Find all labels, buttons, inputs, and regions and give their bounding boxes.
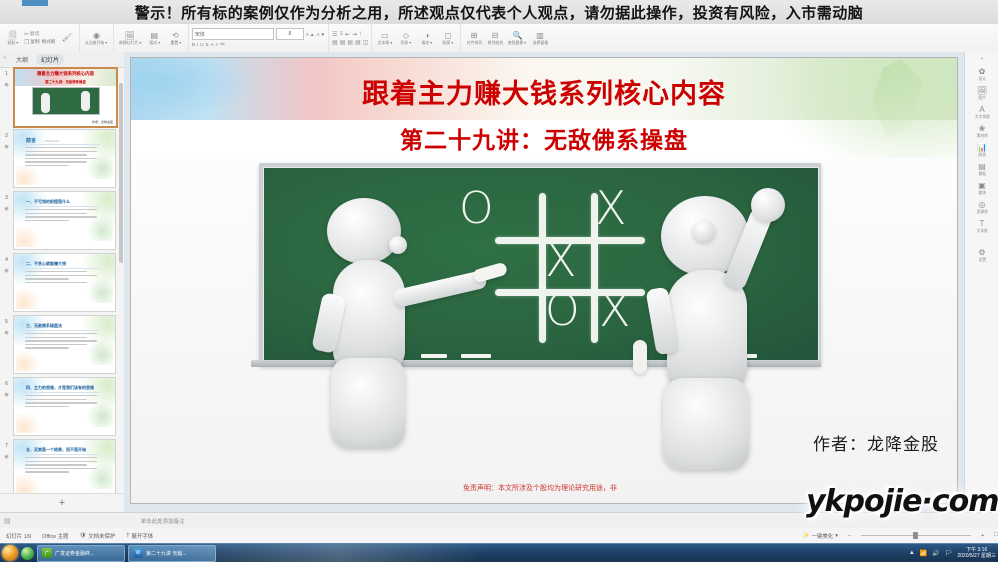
shield-icon: 🛡 xyxy=(79,533,86,539)
thumb-subtitle-1: 第二十九讲：无敌佛系操盘 xyxy=(15,79,116,84)
show-desktop-icon[interactable]: ▲ xyxy=(909,550,915,556)
wps-presentation-window: 警示！所有标的案例仅作为分析之用，所述观点仅代表个人观点，请勿据此操作，投资有风… xyxy=(0,0,998,561)
browser-icon[interactable] xyxy=(21,547,34,560)
tab-outline[interactable]: 大纲 xyxy=(16,55,28,64)
element-icon: ❀ xyxy=(979,124,986,133)
ribbon-group-slides: 🖼 新建幻灯片 ▾ ▤ 版式 ▾ ⟲ 重置 ▾ xyxy=(114,24,189,52)
reset-button[interactable]: ⟲ 重置 ▾ xyxy=(166,25,185,51)
bold-button[interactable]: B xyxy=(192,42,195,47)
windows-taskbar: 广 广发证券金融终... W 第二十九讲 无敌... ▲ 📶 🔊 🏳 下午 3:… xyxy=(0,543,998,562)
hide-slide-icon[interactable]: ◉ xyxy=(4,206,8,212)
warning-banner: 警示！所有标的案例仅作为分析之用，所述观点仅代表个人观点，请勿据此操作，投资有风… xyxy=(0,0,998,25)
banner-tab-marker xyxy=(22,0,48,6)
new-slide-button[interactable]: 🖼 新建幻灯片 ▾ xyxy=(117,25,143,51)
hide-slide-icon[interactable]: ◉ xyxy=(4,144,8,150)
collapse-rail-icon[interactable]: » xyxy=(981,56,984,62)
slide-author[interactable]: 作者：龙降金股 xyxy=(813,430,939,455)
status-protection[interactable]: 🛡文档未保护 xyxy=(79,532,115,540)
thumbnail-slide-4[interactable]: 4◉ 二、不贪心就能赚大钱 xyxy=(0,253,124,314)
rail-item-image[interactable]: 🖼图片 xyxy=(968,86,996,100)
clock-date: 2020/5/27 星期三 xyxy=(957,553,996,559)
new-slide-icon: 🖼 xyxy=(125,32,135,40)
italic-button[interactable]: I xyxy=(197,42,198,47)
rail-item-chart[interactable]: 📊图表 xyxy=(968,143,996,157)
taskbar-window-label-1: 广发证券金融终... xyxy=(55,550,94,557)
clipboard-small-buttons: ✂剪切 ❐复制 格式刷 xyxy=(24,24,55,52)
rail-item-template[interactable]: ▤模板 xyxy=(968,162,996,176)
align-right-button[interactable]: ▤ xyxy=(347,39,353,46)
line-spacing-icon: ↕ xyxy=(359,31,362,37)
underline-button[interactable]: U xyxy=(200,42,203,47)
right-tool-rail: » ✿设计 🖼图片 A文字排版 ❀素材库 📊图表 ▤模板 ▣媒体 ◎资源库 T文… xyxy=(964,52,998,516)
thumb-figure-right xyxy=(81,91,90,111)
thumb-heading-6: 四、主力的思维，才是我们该有的思维 xyxy=(26,385,94,391)
align-left-icon: ▤ xyxy=(332,39,338,46)
thumb-heading-2: 前言 xyxy=(26,137,36,144)
hide-slide-icon[interactable]: ◉ xyxy=(4,82,8,88)
thumbnail-slide-5[interactable]: 5◉ 三、无敌佛系操盘法 xyxy=(0,315,124,376)
fit-slide-icon[interactable]: ⛶ xyxy=(994,532,998,539)
image-group-icon: 🖼 xyxy=(977,86,987,95)
paste-label: 粘贴 ▾ xyxy=(7,40,18,45)
indent-increase-icon: ⇥ xyxy=(352,31,357,38)
align-right-icon: ▤ xyxy=(347,39,353,46)
text-box-button[interactable]: ▭ 文本框 ▾ xyxy=(375,25,394,51)
format-painter-icon: 🖌 xyxy=(62,34,72,42)
chart-icon: 📊 xyxy=(977,143,987,152)
site-watermark: ykpojie·com xyxy=(806,484,998,519)
indent-decrease-icon: ⇤ xyxy=(345,31,350,38)
hide-slide-icon[interactable]: ◉ xyxy=(4,330,8,336)
tab-slides[interactable]: 幻灯片 xyxy=(36,54,64,65)
font-size-input[interactable]: 8 xyxy=(276,28,304,40)
align-objects-button[interactable]: ⊞ 对齐排列 xyxy=(464,25,483,51)
slide-title[interactable]: 跟着主力赚大钱系列核心内容 xyxy=(131,72,957,111)
thumb-title-1: 跟着主力赚大钱系列核心内容 xyxy=(15,71,116,77)
blackboard-illustration: O X X O X xyxy=(131,158,957,503)
settings-icon: ⚙ xyxy=(978,248,985,257)
ribbon-group-clipboard: 🗐 粘贴 ▾ ✂剪切 ❐复制 格式刷 🖌 xyxy=(0,24,80,52)
design-idea-icon: ✿ xyxy=(979,67,986,76)
format-painter-big-button[interactable]: 🖌 xyxy=(57,25,76,51)
rail-item-media[interactable]: ▣媒体 xyxy=(968,181,996,195)
thumbnail-card-4: 二、不贪心就能赚大钱 xyxy=(13,253,116,312)
bullets-icon: ☰ xyxy=(332,31,337,38)
ribbon-group-arrange: ⊞ 对齐排列 ⊟ 排列组合 🔍 查找替换 ▾ ▥ 选择窗格 xyxy=(461,24,552,52)
find-replace-button[interactable]: 🔍 查找替换 ▾ xyxy=(506,25,528,51)
current-slide[interactable]: 跟着主力赚大钱系列核心内容 第二十九讲：无敌佛系操盘 O X xyxy=(130,57,958,504)
resource-icon: ◎ xyxy=(979,200,986,209)
status-beautify[interactable]: ✨一键美化▾ xyxy=(803,532,838,540)
thumbnail-card-2: 前言 PREFACE xyxy=(13,129,116,188)
text-box-icon: ▭ xyxy=(381,32,389,40)
outline-icon: ◻ xyxy=(445,32,452,40)
reset-icon: ⟲ xyxy=(172,32,179,40)
warning-banner-text: 警示！所有标的案例仅作为分析之用，所述观点仅代表个人观点，请勿据此操作，投资有风… xyxy=(135,2,864,23)
system-tray: ▲ 📶 🔊 🏳 下午 3:16 2020/5/27 星期三 xyxy=(909,547,998,559)
font-icon: T xyxy=(126,533,129,539)
justify-button[interactable]: ▤ xyxy=(355,39,361,46)
shrink-font-button[interactable]: A▼ xyxy=(316,32,325,37)
magic-icon: ✨ xyxy=(803,533,810,539)
strikethrough-button[interactable]: S xyxy=(206,42,209,47)
ribbon-group-paragraph: ☰ ≡ ⇤ ⇥ ↕ ▤ ▤ ▤ ▤ ◫ xyxy=(329,24,372,52)
thumbnail-slide-6[interactable]: 6◉ 四、主力的思维，才是我们该有的思维 xyxy=(0,377,124,438)
format-painter-button[interactable]: 格式刷 xyxy=(42,39,56,45)
thumb-author-1: 作者：龙降金股 xyxy=(92,120,113,124)
zoom-slider[interactable] xyxy=(861,535,971,536)
thumbnail-card-1: 跟着主力赚大钱系列核心内容 第二十九讲：无敌佛系操盘 作者：龙降金股 xyxy=(13,67,118,128)
numbering-button[interactable]: ≡ xyxy=(339,31,343,37)
align-center-button[interactable]: ▤ xyxy=(340,39,346,46)
ribbon-group-font: 宋体 8 A▲ A▼ B I U S A × ✏ xyxy=(189,24,329,52)
align-group-button[interactable]: ⊟ 排列组合 xyxy=(485,25,504,51)
thumbnail-card-5: 三、无敌佛系操盘法 xyxy=(13,315,116,374)
thumbnail-index-4: 4 xyxy=(5,257,8,263)
rail-item-settings[interactable]: ⚙设置 xyxy=(968,248,996,262)
highlight-button[interactable]: ✏ xyxy=(220,41,225,48)
wps-icon: W xyxy=(133,548,143,558)
ribbon-group-section: ◉ 从当前开始 ▾ xyxy=(80,24,113,52)
taskbar-window-stock-app[interactable]: 广 广发证券金融终... xyxy=(37,545,125,562)
media-icon: ▣ xyxy=(978,181,986,190)
notes-grip-icon[interactable]: ▤ xyxy=(4,517,11,525)
workspace: ‹‹ 大纲 幻灯片 1 ◉ 跟着主力赚大钱系列核心内容 第二十九讲：无敌佛系操盘 xyxy=(0,52,998,512)
thumbnail-slide-1[interactable]: 1 ◉ 跟着主力赚大钱系列核心内容 第二十九讲：无敌佛系操盘 作者：龙降金股 xyxy=(0,67,124,128)
section-icon: ◉ xyxy=(93,32,100,40)
find-replace-icon: 🔍 xyxy=(512,32,522,40)
volume-icon[interactable]: 🔊 xyxy=(932,550,939,557)
start-from-current-button[interactable]: ◉ 从当前开始 ▾ xyxy=(83,25,109,51)
zoom-out-button[interactable]: − xyxy=(848,533,851,539)
status-theme[interactable]: Office 主题 xyxy=(42,532,68,540)
thumb-heading-4: 二、不贪心就能赚大钱 xyxy=(26,261,66,267)
template-icon: ▤ xyxy=(978,162,986,171)
shapes-button[interactable]: ◇ 形状 ▾ xyxy=(396,25,415,51)
thumb-heading-5: 三、无敌佛系操盘法 xyxy=(26,323,62,329)
collapse-panel-icon[interactable]: ‹‹ xyxy=(3,55,6,61)
action-center-icon[interactable]: 🏳 xyxy=(945,550,953,557)
slide-stage: 跟着主力赚大钱系列核心内容 第二十九讲：无敌佛系操盘 O X xyxy=(124,52,964,512)
hide-slide-icon[interactable]: ◉ xyxy=(4,268,8,274)
zoom-in-button[interactable]: + xyxy=(981,533,984,539)
taskbar-clock[interactable]: 下午 3:16 2020/5/27 星期三 xyxy=(957,547,996,559)
select-pane-icon: ▥ xyxy=(536,32,544,40)
slide-subtitle[interactable]: 第二十九讲：无敌佛系操盘 xyxy=(131,121,957,155)
figure-student xyxy=(601,190,801,440)
board-mark-x-mid: X xyxy=(545,237,577,283)
add-slide-button[interactable]: + xyxy=(0,493,124,512)
network-icon[interactable]: 📶 xyxy=(920,550,927,557)
thumbnail-card-3: 一、不亏钱的前提是什么 xyxy=(13,191,116,250)
rail-item-design[interactable]: ✿设计 xyxy=(968,67,996,81)
zoom-slider-knob[interactable] xyxy=(913,532,918,539)
indent-increase-button[interactable]: ⇥ xyxy=(352,31,357,38)
rail-item-resource[interactable]: ◎资源库 xyxy=(968,200,996,214)
fill-icon: ◑ xyxy=(425,32,430,40)
cut-icon: ✂ xyxy=(24,31,29,38)
cut-button[interactable]: ✂剪切 xyxy=(24,31,39,38)
highlight-icon: ✏ xyxy=(220,41,225,48)
hide-slide-icon[interactable]: ◉ xyxy=(4,454,8,460)
copy-button[interactable]: ❐复制 xyxy=(24,39,40,46)
text-color-button[interactable]: A xyxy=(211,42,214,47)
notes-placeholder: 单击此处添加备注 xyxy=(141,517,185,525)
thumbnail-card-7: 五、买卖是一个结果，而不是开始 xyxy=(13,439,116,494)
rail-item-textbox[interactable]: T文本框 xyxy=(968,219,996,233)
thumbnail-slide-3[interactable]: 3◉ 一、不亏钱的前提是什么 xyxy=(0,191,124,252)
figure-teacher xyxy=(307,198,467,438)
thumb-heading-7: 五、买卖是一个结果，而不是开始 xyxy=(26,447,86,453)
paste-button[interactable]: 🗐 粘贴 ▾ xyxy=(3,25,22,51)
select-pane-button[interactable]: ▥ 选择窗格 xyxy=(530,25,549,51)
thumbnail-index-1: 1 ◉ xyxy=(0,67,13,128)
thumbnail-tabs: 大纲 幻灯片 xyxy=(0,52,124,68)
fill-button[interactable]: ◑ 填充 ▾ xyxy=(417,25,436,51)
taskbar-glow xyxy=(150,544,570,562)
hide-slide-icon[interactable]: ◉ xyxy=(4,392,8,398)
stock-app-icon: 广 xyxy=(42,548,52,558)
paste-icon: 🗐 xyxy=(9,32,17,40)
thumbnail-index-5: 5 xyxy=(5,319,8,325)
thumb-heading-sub-2: PREFACE xyxy=(45,139,59,143)
justify-icon: ▤ xyxy=(355,39,361,46)
grow-font-button[interactable]: A▲ xyxy=(306,32,315,37)
slide-disclaimer: 免责声明：本文所涉及个股均为理论研究用途，非 xyxy=(463,483,617,493)
shapes-icon: ◇ xyxy=(403,32,409,40)
columns-icon: ◫ xyxy=(363,39,369,46)
copy-icon: ❐ xyxy=(24,39,29,46)
align-group-icon: ⊟ xyxy=(492,32,499,40)
align-center-icon: ▤ xyxy=(340,39,346,46)
thumbnail-slide-2[interactable]: 2◉ 前言 PREFACE xyxy=(0,129,124,190)
text-icon: T xyxy=(980,219,985,228)
line-spacing-button[interactable]: ↕ xyxy=(359,31,362,37)
thumbnail-index-3: 3 xyxy=(5,195,8,201)
text-effect-icon: A xyxy=(979,105,984,114)
rail-item-text-layout[interactable]: A文字排版 xyxy=(968,105,996,119)
thumbnail-index-6: 6 xyxy=(5,381,8,387)
bullets-button[interactable]: ☰ xyxy=(332,31,337,38)
thumb-heading-3: 一、不亏钱的前提是什么 xyxy=(26,199,70,205)
layout-button[interactable]: ▤ 版式 ▾ xyxy=(145,25,164,51)
windows-start-orb[interactable] xyxy=(2,545,18,561)
status-slide-count: 幻灯片 1/9 xyxy=(6,532,31,540)
status-embed-fonts[interactable]: T展开字体 xyxy=(126,532,153,540)
board-mark-o-bottom: O xyxy=(545,289,580,333)
layout-icon: ▤ xyxy=(151,32,159,40)
indent-decrease-button[interactable]: ⇤ xyxy=(345,31,350,38)
thumb-figure-left xyxy=(41,93,50,113)
thumbnail-slide-7[interactable]: 7◉ 五、买卖是一个结果，而不是开始 xyxy=(0,439,124,494)
align-objects-icon: ⊞ xyxy=(471,32,478,40)
thumbnail-card-6: 四、主力的思维，才是我们该有的思维 xyxy=(13,377,116,436)
clear-format-button[interactable]: × xyxy=(216,42,219,47)
font-name-input[interactable]: 宋体 xyxy=(192,28,274,40)
status-bar: 幻灯片 1/9 Office 主题 🛡文档未保护 T展开字体 ✨一键美化▾ − … xyxy=(0,528,998,544)
ribbon-toolbar: 🗐 粘贴 ▾ ✂剪切 ❐复制 格式刷 🖌 ◉ 从当前开始 ▾ xyxy=(0,24,998,53)
outline-button[interactable]: ◻ 轮廓 ▾ xyxy=(438,25,457,51)
columns-button[interactable]: ◫ xyxy=(363,39,369,46)
thumbnail-index-2: 2 xyxy=(5,133,8,139)
rail-item-elements[interactable]: ❀素材库 xyxy=(968,124,996,138)
slide-thumbnails-panel: ‹‹ 大纲 幻灯片 1 ◉ 跟着主力赚大钱系列核心内容 第二十九讲：无敌佛系操盘 xyxy=(0,52,125,512)
thumbnail-index-7: 7 xyxy=(5,443,8,449)
ribbon-group-drawing: ▭ 文本框 ▾ ◇ 形状 ▾ ◑ 填充 ▾ ◻ 轮廓 ▾ xyxy=(372,24,461,52)
align-left-button[interactable]: ▤ xyxy=(332,39,338,46)
thumbnail-list[interactable]: 1 ◉ 跟着主力赚大钱系列核心内容 第二十九讲：无敌佛系操盘 作者：龙降金股 xyxy=(0,67,124,494)
numbering-icon: ≡ xyxy=(339,31,343,37)
